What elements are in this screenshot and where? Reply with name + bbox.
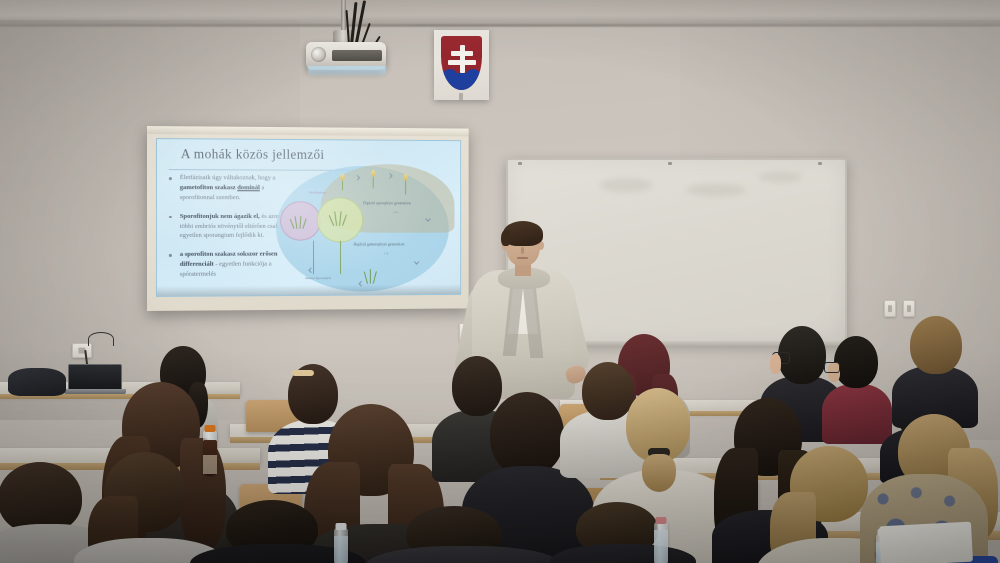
whiteboard-clip <box>668 162 672 165</box>
glasses-icon <box>824 362 840 373</box>
double-cross-lower-bar <box>448 60 476 65</box>
archegonial-head-circle <box>317 197 363 242</box>
student-hair <box>910 316 962 374</box>
plaque-mount <box>459 93 463 100</box>
whiteboard-smudge <box>600 178 652 192</box>
student-face <box>770 354 781 374</box>
diagram-label-2n: 2 n <box>394 210 398 214</box>
lecture-hall-photo: A mohák közös jellemzői Életfázisaik úgy… <box>0 0 1000 563</box>
student-blond-back <box>896 316 974 420</box>
diagram-label-1n: 1 n <box>384 251 388 255</box>
diagram-label-fertilization: Fertilization <box>309 190 326 194</box>
double-cross-vertical <box>460 45 465 73</box>
slide-bottom-shading <box>157 284 460 296</box>
whiteboard-clip <box>818 162 822 165</box>
student-torso <box>366 546 562 563</box>
whiteboard-smudge <box>758 172 802 182</box>
presentation-slide: A mohák közös jellemzői Életfázisaik úgy… <box>156 138 461 297</box>
bottle-label <box>203 455 217 473</box>
bottle-water-pink-cap[interactable] <box>654 522 668 563</box>
lecturer-mouth <box>517 257 528 259</box>
moss-plant-icon <box>365 268 380 284</box>
sporangium-capsule-icon <box>340 174 345 181</box>
moss-life-cycle-diagram: Diploid sporophyte generation 2 n Haploi… <box>270 158 458 296</box>
moss-plant-icon <box>331 210 346 226</box>
bottle-cap <box>336 523 347 530</box>
power-cable-arc <box>88 332 114 346</box>
projection-screen: A mohák közös jellemzői Életfázisaik úgy… <box>147 126 469 311</box>
student-foreground-right-dark <box>366 506 556 563</box>
hair-clip <box>292 370 314 376</box>
wall-socket-right-a[interactable] <box>884 300 896 317</box>
bullet-1-c: dominál <box>237 184 260 191</box>
moss-plant-icon <box>292 213 308 229</box>
three-hills-icon <box>441 73 482 90</box>
screen-top-bar <box>147 126 469 136</box>
student-hair <box>834 336 878 388</box>
seta-stalk <box>373 177 374 189</box>
paper-sheet[interactable] <box>879 522 973 563</box>
slovak-coat-of-arms-plaque <box>434 30 489 100</box>
bullet-1-a: Életfázisaik úgy váltakoznak, hogy a <box>180 174 276 181</box>
student-torso <box>550 544 696 563</box>
bottle-cola[interactable] <box>203 430 217 476</box>
projector-ports <box>332 50 382 61</box>
seta-stalk <box>342 181 343 191</box>
sporangium-capsule-icon <box>371 170 376 177</box>
diagram-label-gametophyte: Haploid gametophyte generation <box>354 242 405 246</box>
backpack <box>8 368 66 396</box>
student-hair <box>490 392 564 476</box>
lecturer-nose <box>521 247 524 254</box>
bottle-liquid <box>334 536 348 563</box>
diagram-label-sporophyte: Diploid sporophyte generation <box>363 201 411 205</box>
projector-lens-icon <box>311 47 326 62</box>
student-ponytail <box>642 454 676 492</box>
wall-socket-right-b[interactable] <box>903 300 915 317</box>
bottle-cap <box>656 517 667 524</box>
whiteboard-clip <box>518 162 522 165</box>
bottle-water-center[interactable] <box>334 528 348 563</box>
bullet-1-b: gametofiton szakasz <box>180 184 236 191</box>
lecturer-hair <box>503 221 543 246</box>
bottle-liquid <box>654 530 668 563</box>
sporangium-capsule-icon <box>403 174 408 181</box>
double-cross-upper-bar <box>451 51 473 56</box>
whiteboard-smudge <box>686 184 746 196</box>
coat-of-arms-shield <box>441 36 482 90</box>
bottle-cap <box>205 425 216 432</box>
antheridial-head-circle <box>280 201 321 241</box>
diagram-label-mature: Mature Sporophyte <box>305 276 331 280</box>
bullet-2-a: Sporofitonjuk nem ágazik el, <box>180 213 260 220</box>
projector-light-glow <box>308 66 386 76</box>
seta-stalk <box>405 181 406 195</box>
